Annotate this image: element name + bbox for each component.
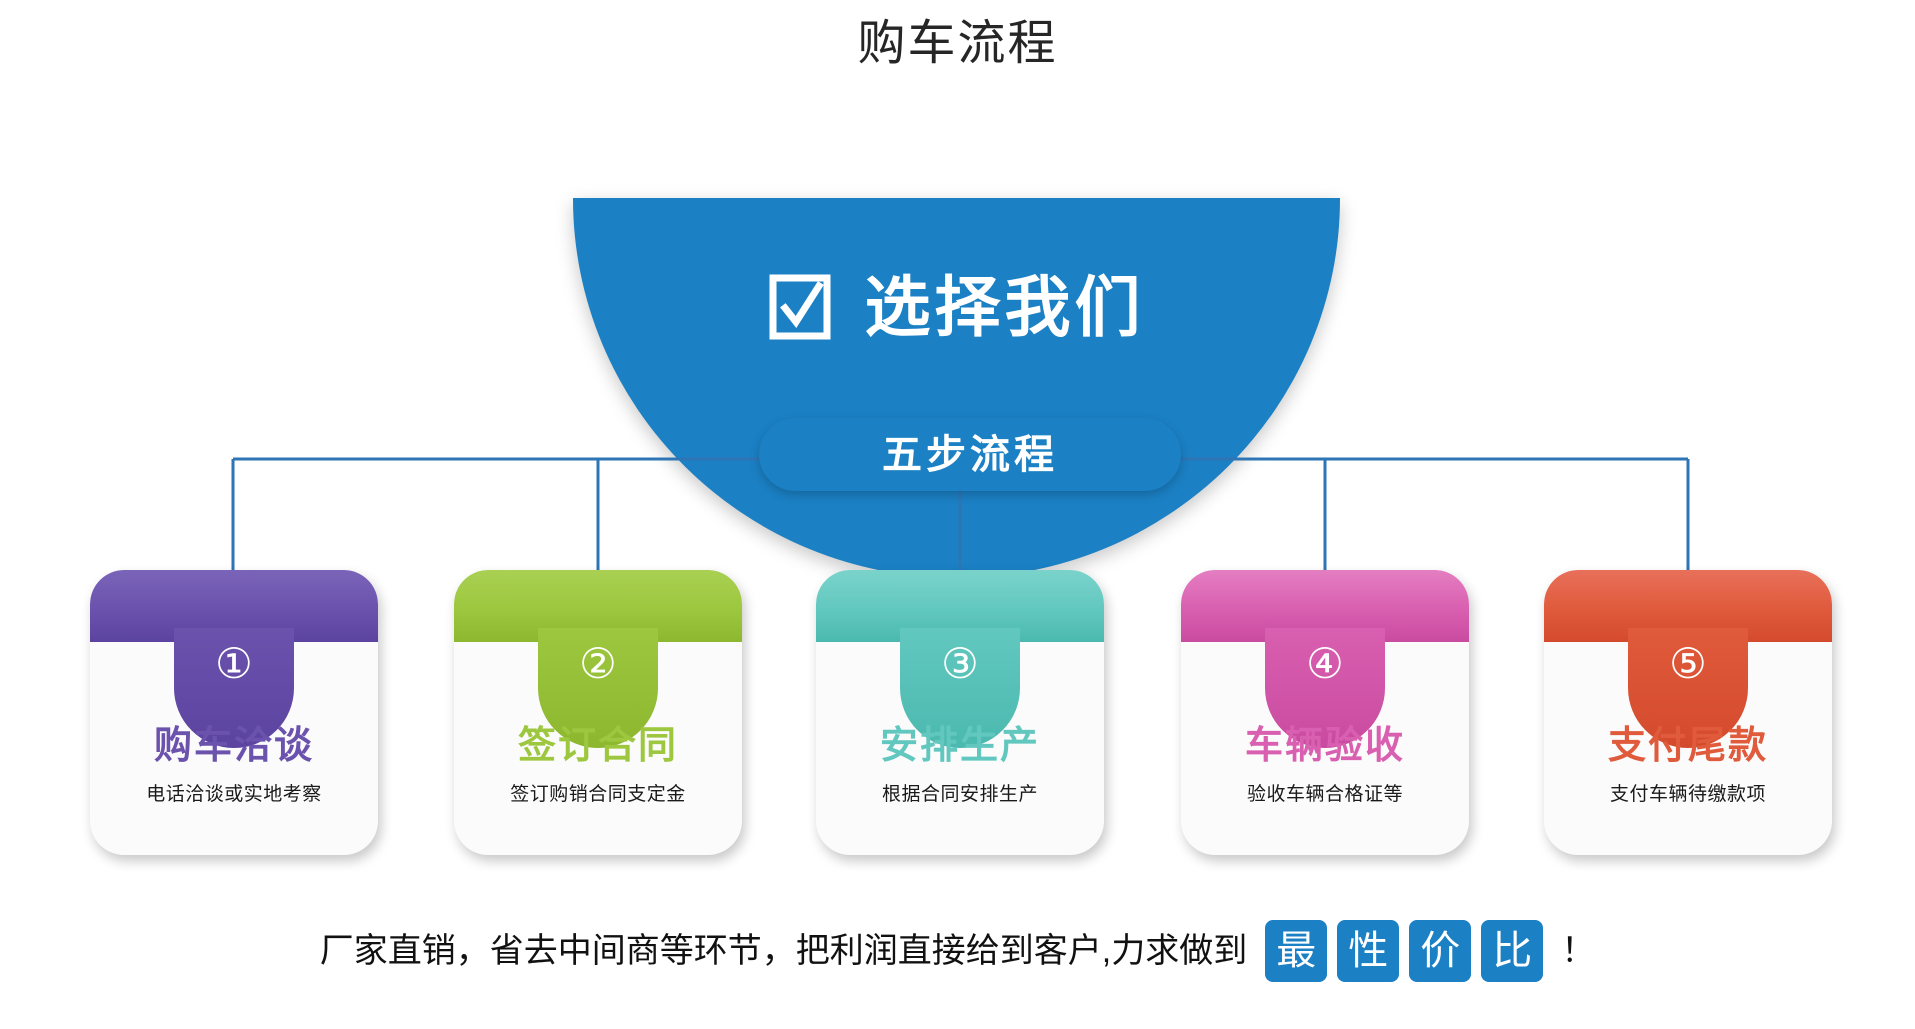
step-number-5: ⑤: [1662, 638, 1714, 690]
slide-canvas: 购车流程 选择我们 五步流程: [0, 0, 1915, 1029]
footer-chip-2: 性: [1337, 920, 1399, 982]
hero-banner: 选择我们: [573, 198, 1340, 388]
footer-chip-3: 价: [1409, 920, 1471, 982]
step-title-2: 签订合同: [454, 722, 742, 770]
step-number-3: ③: [934, 638, 986, 690]
step-title-1: 购车洽谈: [90, 722, 378, 770]
footer-chip-1: 最: [1265, 920, 1327, 982]
page-title: 购车流程: [0, 12, 1915, 76]
step-subtitle-4: 验收车辆合格证等: [1181, 782, 1469, 808]
step-number-4: ④: [1299, 638, 1351, 690]
step-card-row: ① 购车洽谈 电话洽谈或实地考察 ② 签订合同 签订购销合同支定金 ③ 安排生产…: [0, 570, 1915, 870]
footer-tagline: 厂家直销，省去中间商等环节，把利润直接给到客户,力求做到 最 性 价 比 ！: [0, 920, 1915, 982]
step-card-3[interactable]: ③ 安排生产 根据合同安排生产: [816, 570, 1104, 855]
hero-dome-shape: 选择我们: [573, 198, 1340, 578]
footer-chip-4: 比: [1481, 920, 1543, 982]
hero-title: 选择我们: [865, 274, 1145, 340]
footer-text: 厂家直销，省去中间商等环节，把利润直接给到客户,力求做到: [320, 927, 1247, 975]
pill-label: 五步流程: [882, 435, 1058, 475]
step-subtitle-1: 电话洽谈或实地考察: [90, 782, 378, 808]
step-title-5: 支付尾款: [1544, 722, 1832, 770]
step-subtitle-5: 支付车辆待缴款项: [1544, 782, 1832, 808]
step-card-4[interactable]: ④ 车辆验收 验收车辆合格证等: [1181, 570, 1469, 855]
checkbox-checked-icon: [769, 272, 831, 342]
five-step-pill[interactable]: 五步流程: [759, 418, 1181, 491]
footer-exclamation: ！: [1561, 927, 1595, 975]
step-subtitle-3: 根据合同安排生产: [816, 782, 1104, 808]
step-subtitle-2: 签订购销合同支定金: [454, 782, 742, 808]
step-card-1[interactable]: ① 购车洽谈 电话洽谈或实地考察: [90, 570, 378, 855]
step-card-5[interactable]: ⑤ 支付尾款 支付车辆待缴款项: [1544, 570, 1832, 855]
footer-chip-group: 最 性 价 比: [1265, 920, 1543, 982]
step-number-2: ②: [572, 638, 624, 690]
step-title-4: 车辆验收: [1181, 722, 1469, 770]
step-title-3: 安排生产: [816, 722, 1104, 770]
step-number-1: ①: [208, 638, 260, 690]
step-card-2[interactable]: ② 签订合同 签订购销合同支定金: [454, 570, 742, 855]
